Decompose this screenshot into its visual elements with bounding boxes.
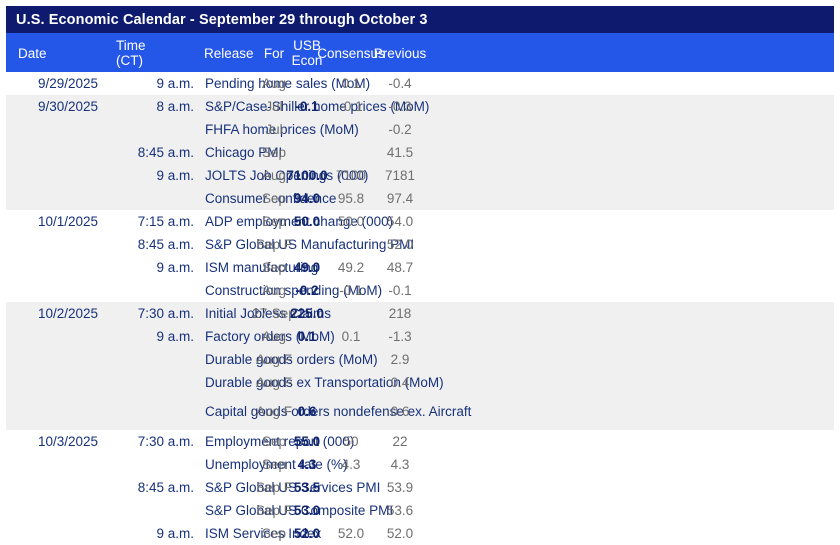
column-header-previous: Previous — [6, 46, 794, 61]
cell-previous: 2.9 — [6, 352, 794, 368]
cell-previous: 218 — [6, 306, 794, 322]
cell-previous: -0.2 — [6, 122, 794, 138]
cell-previous: 0.4 — [6, 375, 794, 391]
cell-previous: 48.7 — [6, 260, 794, 276]
table-row[interactable]: 8:45 a.m.S&P Global US Services PMISep F… — [6, 476, 834, 499]
date-group: 9/29/20259 a.m.Pending home sales (MoM)A… — [6, 72, 834, 95]
cell-previous: 52.0 — [6, 237, 794, 253]
table-row[interactable]: 9 a.m.ISM manufacturingSep49.049.248.7 — [6, 256, 834, 279]
calendar-title-bar: U.S. Economic Calendar - September 29 th… — [6, 6, 834, 33]
economic-calendar-table: U.S. Economic Calendar - September 29 th… — [0, 0, 840, 537]
page-title: U.S. Economic Calendar - September 29 th… — [16, 12, 428, 28]
table-row[interactable]: 8:45 a.m.S&P Global US Manufacturing PMI… — [6, 233, 834, 256]
date-group: 10/1/20257:15 a.m.ADP employment change … — [6, 210, 834, 302]
cell-previous: -1.3 — [6, 329, 794, 345]
cell-previous: 52.0 — [6, 526, 794, 542]
table-row[interactable]: Unemployment rate (%)Sep4.34.34.3 — [6, 453, 834, 476]
table-row[interactable]: 9/30/20258 a.m.S&P/Case-Shiller home pri… — [6, 95, 834, 118]
table-body: 9/29/20259 a.m.Pending home sales (MoM)A… — [6, 72, 834, 531]
table-row[interactable]: Capital goods orders nondefense ex. Airc… — [6, 394, 834, 430]
table-row[interactable]: 10/1/20257:15 a.m.ADP employment change … — [6, 210, 834, 233]
table-row[interactable]: 9/29/20259 a.m.Pending home sales (MoM)A… — [6, 72, 834, 95]
table-row[interactable]: FHFA home prices (MoM)Jul-0.2 — [6, 118, 834, 141]
table-row[interactable]: 9 a.m.ISM Services IndexSep52.052.052.0 — [6, 522, 834, 545]
cell-previous: 97.4 — [6, 191, 794, 207]
date-group: 10/2/20257:30 a.m.Initial Jobless Claims… — [6, 302, 834, 430]
table-row[interactable]: Construction spending (MoM)Aug-0.2-0.1-0… — [6, 279, 834, 302]
table-row[interactable]: 10/3/20257:30 a.m.Employment report (000… — [6, 430, 834, 453]
date-group: 10/3/20257:30 a.m.Employment report (000… — [6, 430, 834, 545]
cell-previous: -0.1 — [6, 283, 794, 299]
table-row[interactable]: Durable goods ex Transportation (MoM)Aug… — [6, 371, 834, 394]
cell-previous: 4.3 — [6, 457, 794, 473]
cell-previous: 53.9 — [6, 480, 794, 496]
cell-previous: 53.6 — [6, 503, 794, 519]
cell-previous: -0.4 — [6, 76, 794, 92]
cell-previous: 41.5 — [6, 145, 794, 161]
cell-previous: 22 — [6, 434, 794, 450]
cell-previous: 0.6 — [6, 404, 794, 420]
date-group: 9/30/20258 a.m.S&P/Case-Shiller home pri… — [6, 95, 834, 210]
table-row[interactable]: 9 a.m.Factory orders (MoM)Aug0.10.1-1.3 — [6, 325, 834, 348]
table-row[interactable]: 9 a.m.JOLTS Job Openings (000)Aug7100.07… — [6, 164, 834, 187]
table-row[interactable]: 10/2/20257:30 a.m.Initial Jobless Claims… — [6, 302, 834, 325]
table-row[interactable]: S&P Global US Composite PMISep F53.053.6 — [6, 499, 834, 522]
table-row[interactable]: Durable goods orders (MoM)Aug F2.9 — [6, 348, 834, 371]
cell-previous: -0.3 — [6, 99, 794, 115]
table-row[interactable]: Consumer confidenceSep94.095.897.4 — [6, 187, 834, 210]
cell-previous: 54.0 — [6, 214, 794, 230]
cell-previous: 7181 — [6, 168, 794, 184]
table-row[interactable]: 8:45 a.m.Chicago PMISep41.5 — [6, 141, 834, 164]
table-header-row: Date Time (CT) Release For USB Econ Cons… — [6, 33, 834, 72]
